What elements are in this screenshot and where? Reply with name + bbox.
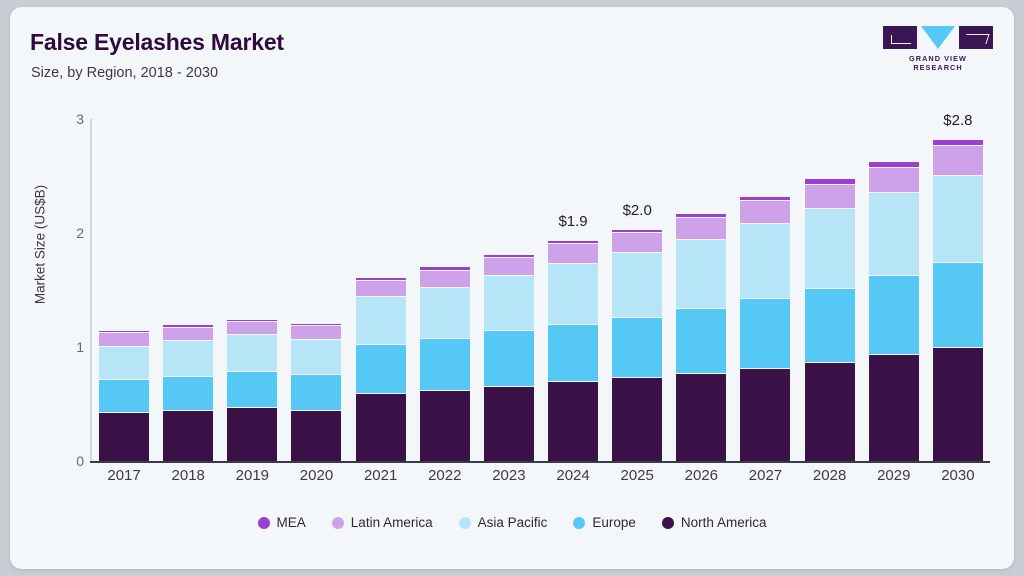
bar-segment-europe-2029[interactable] [869, 275, 919, 354]
stacked-bar-2028[interactable] [805, 179, 855, 461]
bar-segment-europe-2026[interactable] [676, 308, 726, 373]
x-axis-tick-2019: 2019 [220, 467, 284, 484]
bar-segment-europe-2020[interactable] [291, 374, 341, 409]
x-axis-tick-2024: 2024 [541, 467, 605, 484]
bar-segment-latin-america-2029[interactable] [869, 167, 919, 192]
x-axis-tick-2025: 2025 [605, 467, 669, 484]
x-axis-tick-2027: 2027 [733, 467, 797, 484]
bar-segment-europe-2030[interactable] [933, 262, 983, 348]
bar-segment-asia-pacific-2029[interactable] [869, 192, 919, 275]
bar-segment-asia-pacific-2018[interactable] [163, 340, 213, 375]
stacked-bar-2025[interactable] [612, 230, 662, 461]
bar-column-2026[interactable]: 2026 [669, 119, 733, 461]
legend-swatch-icon [258, 517, 270, 529]
x-axis-tick-2028: 2028 [798, 467, 862, 484]
stacked-bar-2017[interactable] [99, 331, 149, 461]
x-axis-tick-2020: 2020 [284, 467, 348, 484]
bar-segment-asia-pacific-2020[interactable] [291, 339, 341, 374]
bar-segment-north-america-2017[interactable] [99, 412, 149, 461]
x-axis-tick-2022: 2022 [413, 467, 477, 484]
x-axis-tick-2018: 2018 [156, 467, 220, 484]
bar-column-2030[interactable]: $2.82030 [926, 119, 990, 461]
bar-segment-europe-2022[interactable] [420, 338, 470, 390]
legend-item-north-america[interactable]: North America [662, 515, 767, 530]
bar-segment-north-america-2019[interactable] [227, 407, 277, 461]
bar-segment-latin-america-2020[interactable] [291, 325, 341, 339]
legend-label: Latin America [351, 515, 433, 530]
bar-segment-asia-pacific-2030[interactable] [933, 175, 983, 262]
bar-column-2023[interactable]: 2023 [477, 119, 541, 461]
bar-column-2019[interactable]: 2019 [220, 119, 284, 461]
bar-value-label-2024: $1.9 [541, 213, 605, 230]
bar-column-2021[interactable]: 2021 [349, 119, 413, 461]
x-axis-line [90, 461, 990, 463]
bar-segment-north-america-2022[interactable] [420, 390, 470, 461]
bar-column-2028[interactable]: 2028 [798, 119, 862, 461]
x-axis-tick-2029: 2029 [862, 467, 926, 484]
legend-label: Asia Pacific [478, 515, 548, 530]
bar-segment-north-america-2026[interactable] [676, 373, 726, 461]
chart-legend: MEALatin AmericaAsia PacificEuropeNorth … [10, 515, 1014, 530]
bar-group: 2017201820192020202120222023$1.92024$2.0… [92, 119, 990, 461]
y-axis-tick-0: 0 [44, 453, 84, 469]
bar-segment-latin-america-2027[interactable] [740, 200, 790, 223]
legend-label: MEA [277, 515, 306, 530]
stacked-bar-2026[interactable] [676, 214, 726, 461]
bar-segment-asia-pacific-2026[interactable] [676, 239, 726, 309]
legend-swatch-icon [459, 517, 471, 529]
bar-segment-latin-america-2018[interactable] [163, 327, 213, 341]
bar-segment-latin-america-2019[interactable] [227, 321, 277, 335]
bar-segment-asia-pacific-2019[interactable] [227, 334, 277, 370]
legend-swatch-icon [573, 517, 585, 529]
legend-item-asia-pacific[interactable]: Asia Pacific [459, 515, 548, 530]
bar-segment-latin-america-2023[interactable] [484, 257, 534, 275]
legend-label: North America [681, 515, 767, 530]
bar-column-2017[interactable]: 2017 [92, 119, 156, 461]
bar-value-label-2030: $2.8 [926, 112, 990, 129]
stacked-bar-2030[interactable] [933, 140, 983, 461]
bar-column-2029[interactable]: 2029 [862, 119, 926, 461]
bar-segment-latin-america-2028[interactable] [805, 184, 855, 208]
bar-segment-europe-2019[interactable] [227, 371, 277, 407]
legend-item-mea[interactable]: MEA [258, 515, 306, 530]
bar-segment-europe-2021[interactable] [356, 344, 406, 393]
stacked-bar-2029[interactable] [869, 162, 919, 461]
x-axis-tick-2026: 2026 [669, 467, 733, 484]
stacked-bar-2022[interactable] [420, 267, 470, 461]
y-axis-tick-2: 2 [44, 225, 84, 241]
bar-segment-europe-2025[interactable] [612, 317, 662, 376]
bar-column-2024[interactable]: $1.92024 [541, 119, 605, 461]
bar-column-2027[interactable]: 2027 [733, 119, 797, 461]
bar-value-label-2025: $2.0 [605, 202, 669, 219]
x-axis-tick-2017: 2017 [92, 467, 156, 484]
bar-column-2022[interactable]: 2022 [413, 119, 477, 461]
bar-segment-north-america-2028[interactable] [805, 362, 855, 461]
bar-segment-north-america-2023[interactable] [484, 386, 534, 461]
bar-segment-north-america-2020[interactable] [291, 410, 341, 461]
bar-segment-europe-2023[interactable] [484, 330, 534, 386]
stacked-bar-2018[interactable] [163, 325, 213, 461]
y-axis-tick-3: 3 [44, 111, 84, 127]
bar-column-2018[interactable]: 2018 [156, 119, 220, 461]
y-axis-label: Market Size (US$B) [33, 145, 48, 345]
bar-segment-latin-america-2030[interactable] [933, 145, 983, 175]
legend-item-latin-america[interactable]: Latin America [332, 515, 433, 530]
x-axis-tick-2023: 2023 [477, 467, 541, 484]
bar-segment-latin-america-2022[interactable] [420, 270, 470, 287]
chart-plot-area: 0123 Market Size (US$B) 2017201820192020… [10, 7, 1014, 569]
bar-segment-asia-pacific-2024[interactable] [548, 263, 598, 325]
bar-segment-latin-america-2024[interactable] [548, 243, 598, 262]
bar-segment-latin-america-2026[interactable] [676, 217, 726, 239]
chart-card: False Eyelashes Market Size, by Region, … [10, 7, 1014, 569]
bar-segment-asia-pacific-2028[interactable] [805, 208, 855, 288]
stacked-bar-2019[interactable] [227, 320, 277, 461]
bar-segment-europe-2027[interactable] [740, 298, 790, 368]
bar-segment-north-america-2024[interactable] [548, 381, 598, 461]
y-axis-tick-1: 1 [44, 339, 84, 355]
bar-segment-north-america-2030[interactable] [933, 347, 983, 461]
bar-segment-europe-2024[interactable] [548, 324, 598, 381]
bar-segment-latin-america-2025[interactable] [612, 232, 662, 253]
bar-segment-north-america-2025[interactable] [612, 377, 662, 461]
bar-segment-north-america-2029[interactable] [869, 354, 919, 461]
bar-segment-europe-2017[interactable] [99, 379, 149, 412]
stacked-bar-2021[interactable] [356, 278, 406, 462]
bar-segment-europe-2028[interactable] [805, 288, 855, 362]
bar-column-2025[interactable]: $2.02025 [605, 119, 669, 461]
legend-label: Europe [592, 515, 636, 530]
stacked-bar-2020[interactable] [291, 324, 341, 461]
bar-segment-latin-america-2021[interactable] [356, 280, 406, 296]
bar-column-2020[interactable]: 2020 [284, 119, 348, 461]
bar-segment-north-america-2027[interactable] [740, 368, 790, 461]
bar-segment-asia-pacific-2022[interactable] [420, 287, 470, 338]
stacked-bar-2024[interactable] [548, 241, 598, 461]
bar-segment-latin-america-2017[interactable] [99, 332, 149, 346]
bar-segment-north-america-2021[interactable] [356, 393, 406, 461]
stacked-bar-2027[interactable] [740, 197, 790, 461]
bar-segment-asia-pacific-2017[interactable] [99, 346, 149, 379]
legend-swatch-icon [332, 517, 344, 529]
x-axis-tick-2030: 2030 [926, 467, 990, 484]
legend-item-europe[interactable]: Europe [573, 515, 636, 530]
bar-segment-asia-pacific-2023[interactable] [484, 275, 534, 330]
x-axis-tick-2021: 2021 [349, 467, 413, 484]
bar-segment-north-america-2018[interactable] [163, 410, 213, 461]
bar-segment-asia-pacific-2021[interactable] [356, 296, 406, 344]
stacked-bar-2023[interactable] [484, 255, 534, 461]
legend-swatch-icon [662, 517, 674, 529]
bar-segment-asia-pacific-2025[interactable] [612, 252, 662, 317]
bar-segment-asia-pacific-2027[interactable] [740, 223, 790, 298]
bar-segment-europe-2018[interactable] [163, 376, 213, 410]
